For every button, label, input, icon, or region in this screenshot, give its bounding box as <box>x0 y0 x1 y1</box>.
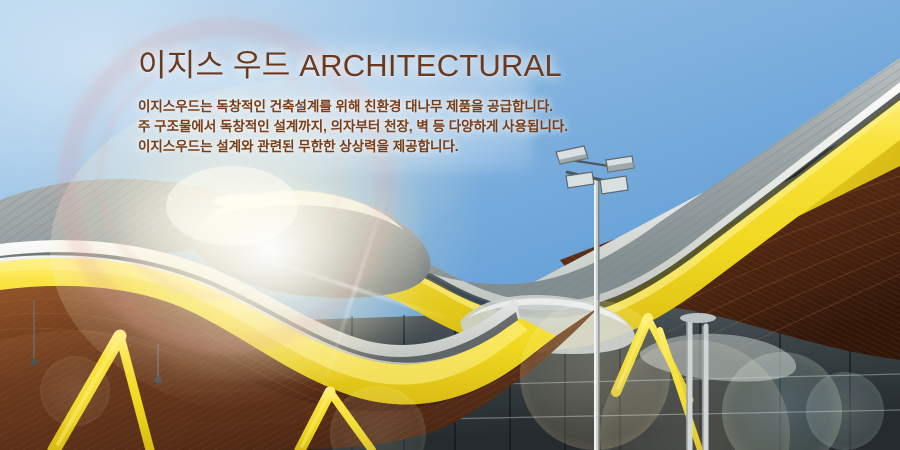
description-line-2: 주 구조물에서 독창적인 설계까지, 의자부터 천장, 벽 등 다양하게 사용됩… <box>138 117 698 137</box>
description-line-3: 이지스우드는 설계와 관련된 무한한 상상력을 제공합니다. <box>138 137 698 157</box>
hero-banner: 이지스 우드 ARCHITECTURAL 이지스우드는 독창적인 건축설계를 위… <box>0 0 900 450</box>
banner-copy: 이지스 우드 ARCHITECTURAL 이지스우드는 독창적인 건축설계를 위… <box>138 48 698 157</box>
banner-description: 이지스우드는 독창적인 건축설계를 위해 친환경 대나무 제품을 공급합니다. … <box>138 97 698 157</box>
banner-headline: 이지스 우드 ARCHITECTURAL <box>138 48 698 85</box>
description-line-1: 이지스우드는 독창적인 건축설계를 위해 친환경 대나무 제품을 공급합니다. <box>138 97 698 117</box>
